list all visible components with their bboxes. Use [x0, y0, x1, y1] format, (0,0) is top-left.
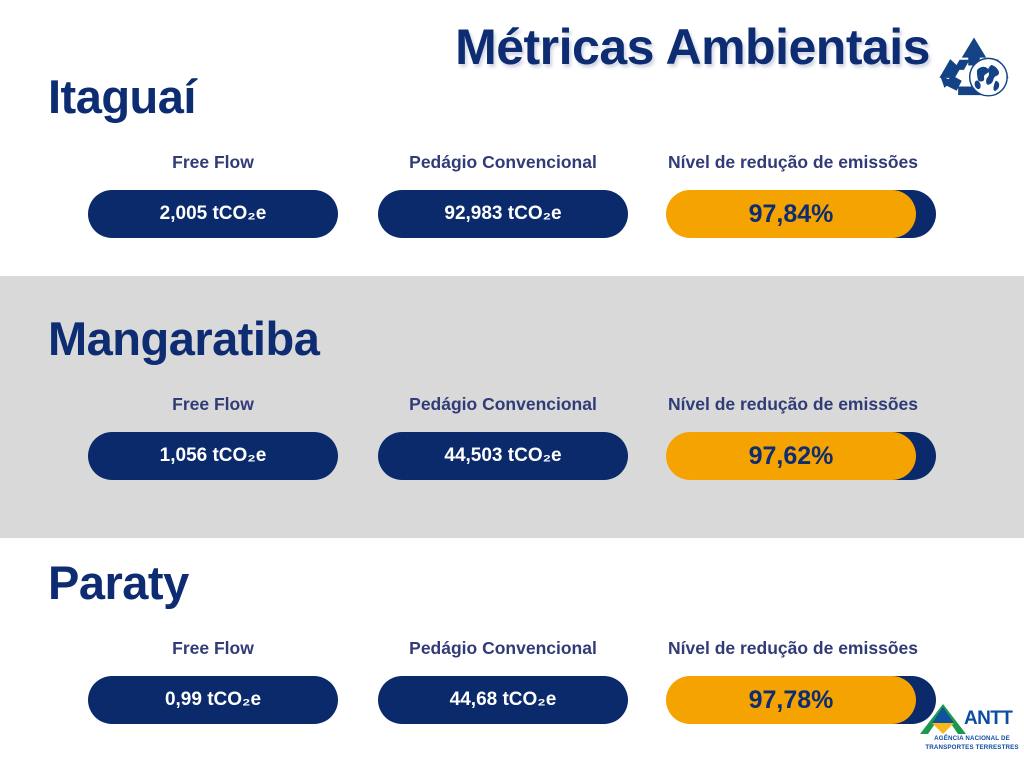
- metric-label-reduction-level: Nível de redução de emissões: [648, 394, 938, 416]
- value-pill-reduction-level: 97,84%: [666, 190, 916, 238]
- value-pill-conventional-toll: 44,68 tCO₂e: [378, 676, 628, 724]
- metric-reduction-level: Nível de redução de emissões 97,62%: [648, 394, 938, 480]
- pill-wrap: 97,78%: [648, 676, 938, 724]
- metric-label-free-flow: Free Flow: [68, 152, 358, 174]
- pill-wrap: 1,056 tCO₂e: [68, 432, 358, 480]
- metric-label-conventional-toll: Pedágio Convencional: [358, 394, 648, 416]
- metrics-row: Free Flow 0,99 tCO₂e Pedágio Convenciona…: [0, 638, 1024, 728]
- metrics-row: Free Flow 1,056 tCO₂e Pedágio Convencion…: [0, 394, 1024, 484]
- metric-free-flow: Free Flow 1,056 tCO₂e: [68, 394, 358, 480]
- metric-reduction-level: Nível de redução de emissões 97,84%: [648, 152, 938, 238]
- metric-conventional-toll: Pedágio Convencional 44,68 tCO₂e: [358, 638, 648, 724]
- value-pill-free-flow: 2,005 tCO₂e: [88, 190, 338, 238]
- pill-wrap: 0,99 tCO₂e: [68, 676, 358, 724]
- pill-wrap: 92,983 tCO₂e: [358, 190, 648, 238]
- metric-label-free-flow: Free Flow: [68, 394, 358, 416]
- value-pill-reduction-level: 97,78%: [666, 676, 916, 724]
- metric-label-reduction-level: Nível de redução de emissões: [648, 638, 938, 660]
- recycling-globe-icon: [936, 36, 1012, 98]
- metric-free-flow: Free Flow 2,005 tCO₂e: [68, 152, 358, 238]
- metric-conventional-toll: Pedágio Convencional 92,983 tCO₂e: [358, 152, 648, 238]
- antt-subtitle: AGÊNCIA NACIONAL DE TRANSPORTES TERRESTR…: [922, 735, 1022, 753]
- metric-free-flow: Free Flow 0,99 tCO₂e: [68, 638, 358, 724]
- metrics-row: Free Flow 2,005 tCO₂e Pedágio Convencion…: [0, 152, 1024, 242]
- value-pill-free-flow: 1,056 tCO₂e: [88, 432, 338, 480]
- metric-label-free-flow: Free Flow: [68, 638, 358, 660]
- metric-label-conventional-toll: Pedágio Convencional: [358, 638, 648, 660]
- antt-logo: ANTT AGÊNCIA NACIONAL DE TRANSPORTES TER…: [920, 704, 1020, 760]
- pill-wrap: 2,005 tCO₂e: [68, 190, 358, 238]
- value-pill-free-flow: 0,99 tCO₂e: [88, 676, 338, 724]
- metric-label-reduction-level: Nível de redução de emissões: [648, 152, 938, 174]
- value-pill-reduction-level: 97,62%: [666, 432, 916, 480]
- pill-wrap: 44,503 tCO₂e: [358, 432, 648, 480]
- city-title: Mangaratiba: [48, 312, 319, 366]
- metric-conventional-toll: Pedágio Convencional 44,503 tCO₂e: [358, 394, 648, 480]
- pill-wrap: 44,68 tCO₂e: [358, 676, 648, 724]
- antt-triangles-icon: [920, 704, 966, 734]
- city-title: Itaguaí: [48, 70, 196, 124]
- city-title: Paraty: [48, 556, 189, 610]
- infographic-page: Métricas Ambientais: [0, 0, 1024, 768]
- value-pill-conventional-toll: 92,983 tCO₂e: [378, 190, 628, 238]
- metric-label-conventional-toll: Pedágio Convencional: [358, 152, 648, 174]
- pill-wrap: 97,84%: [648, 190, 938, 238]
- pill-wrap: 97,62%: [648, 432, 938, 480]
- value-pill-conventional-toll: 44,503 tCO₂e: [378, 432, 628, 480]
- antt-wordmark: ANTT: [964, 708, 1012, 730]
- metric-reduction-level: Nível de redução de emissões 97,78%: [648, 638, 938, 724]
